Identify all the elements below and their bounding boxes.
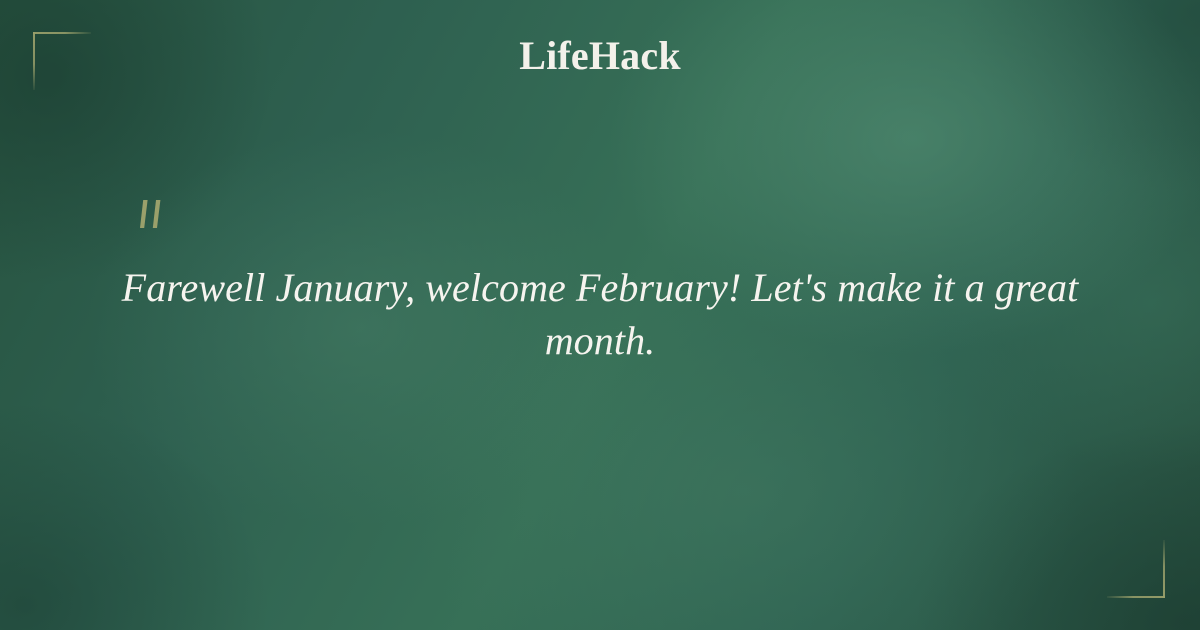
- bracket-horizontal-bar: [33, 32, 91, 34]
- quote-card: LifeHack Farewell January, welcome Febru…: [0, 0, 1200, 630]
- quote-block: Farewell January, welcome February! Let'…: [100, 262, 1100, 368]
- bottom-right-corner-bracket: [1107, 540, 1165, 598]
- bracket-horizontal-bar: [1107, 596, 1165, 598]
- bracket-vertical-bar: [1163, 540, 1165, 598]
- quote-mark-icon: [131, 198, 177, 244]
- brand-logo: LifeHack: [0, 36, 1200, 76]
- quote-text: Farewell January, welcome February! Let'…: [100, 262, 1100, 368]
